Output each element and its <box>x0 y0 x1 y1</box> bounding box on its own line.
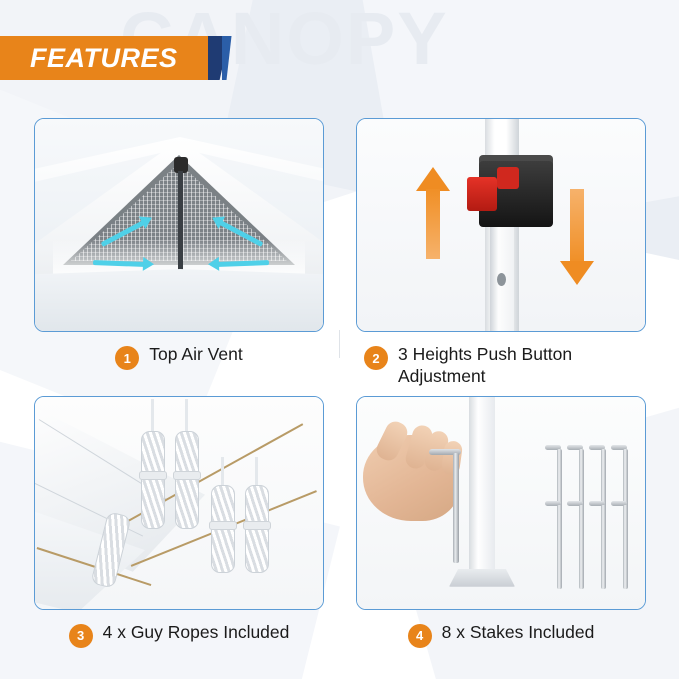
features-banner-bar: FEATURES <box>0 36 194 80</box>
feature-number-badge: 2 <box>364 346 388 370</box>
feature-image-push-button <box>356 118 646 332</box>
rope-tie <box>243 521 271 530</box>
feature-caption-3: 3 4 x Guy Ropes Included <box>34 622 324 648</box>
arrow-up-icon <box>423 167 443 259</box>
stake <box>623 505 628 589</box>
feature-number-badge: 3 <box>69 624 93 648</box>
red-push-button-secondary <box>497 167 519 189</box>
stake-held <box>453 453 459 563</box>
feature-caption-text: Top Air Vent <box>149 344 242 366</box>
red-push-button <box>467 177 497 211</box>
stake <box>579 505 584 589</box>
hanging-rope <box>185 399 188 435</box>
hanging-rope <box>151 399 154 435</box>
feature-caption-text: 4 x Guy Ropes Included <box>103 622 290 644</box>
feature-number-badge: 1 <box>115 346 139 370</box>
feature-number-badge: 4 <box>408 624 432 648</box>
features-banner-label: FEATURES <box>30 43 178 74</box>
rope-bundle <box>175 431 199 529</box>
height-adjust-hole <box>497 273 506 286</box>
canopy-foot-plate <box>449 569 515 587</box>
canopy-lower-panel <box>34 269 324 332</box>
feature-infographic-page: CANOPY FEATURES <box>0 0 679 679</box>
feature-caption-2: 2 3 Heights Push Button Adjustment <box>356 344 646 388</box>
features-banner: FEATURES <box>0 36 232 80</box>
arrow-down-icon <box>567 189 587 299</box>
rope-tie <box>173 471 201 480</box>
feature-caption-4: 4 8 x Stakes Included <box>356 622 646 648</box>
canopy-leg <box>469 397 495 575</box>
hanging-rope <box>221 457 224 487</box>
feature-cell-4: 4 8 x Stakes Included <box>356 396 646 648</box>
stake <box>557 505 562 589</box>
rope-tie <box>209 521 237 530</box>
center-pole <box>178 171 183 275</box>
banner-arrow-blue <box>222 36 232 80</box>
feature-caption-text: 3 Heights Push Button Adjustment <box>398 344 638 388</box>
feature-caption-1: 1 Top Air Vent <box>34 344 324 370</box>
rope-bundle <box>141 431 165 529</box>
rope-tie <box>139 471 167 480</box>
feature-caption-text: 8 x Stakes Included <box>442 622 595 644</box>
feature-cell-2: 2 3 Heights Push Button Adjustment <box>356 118 646 388</box>
feature-cell-3: 3 4 x Guy Ropes Included <box>34 396 324 648</box>
feature-image-top-air-vent <box>34 118 324 332</box>
features-grid: 1 Top Air Vent <box>34 118 646 648</box>
feature-image-stakes <box>356 396 646 610</box>
feature-cell-1: 1 Top Air Vent <box>34 118 324 388</box>
hanging-rope <box>255 457 258 487</box>
stake <box>601 505 606 589</box>
feature-image-guy-ropes <box>34 396 324 610</box>
